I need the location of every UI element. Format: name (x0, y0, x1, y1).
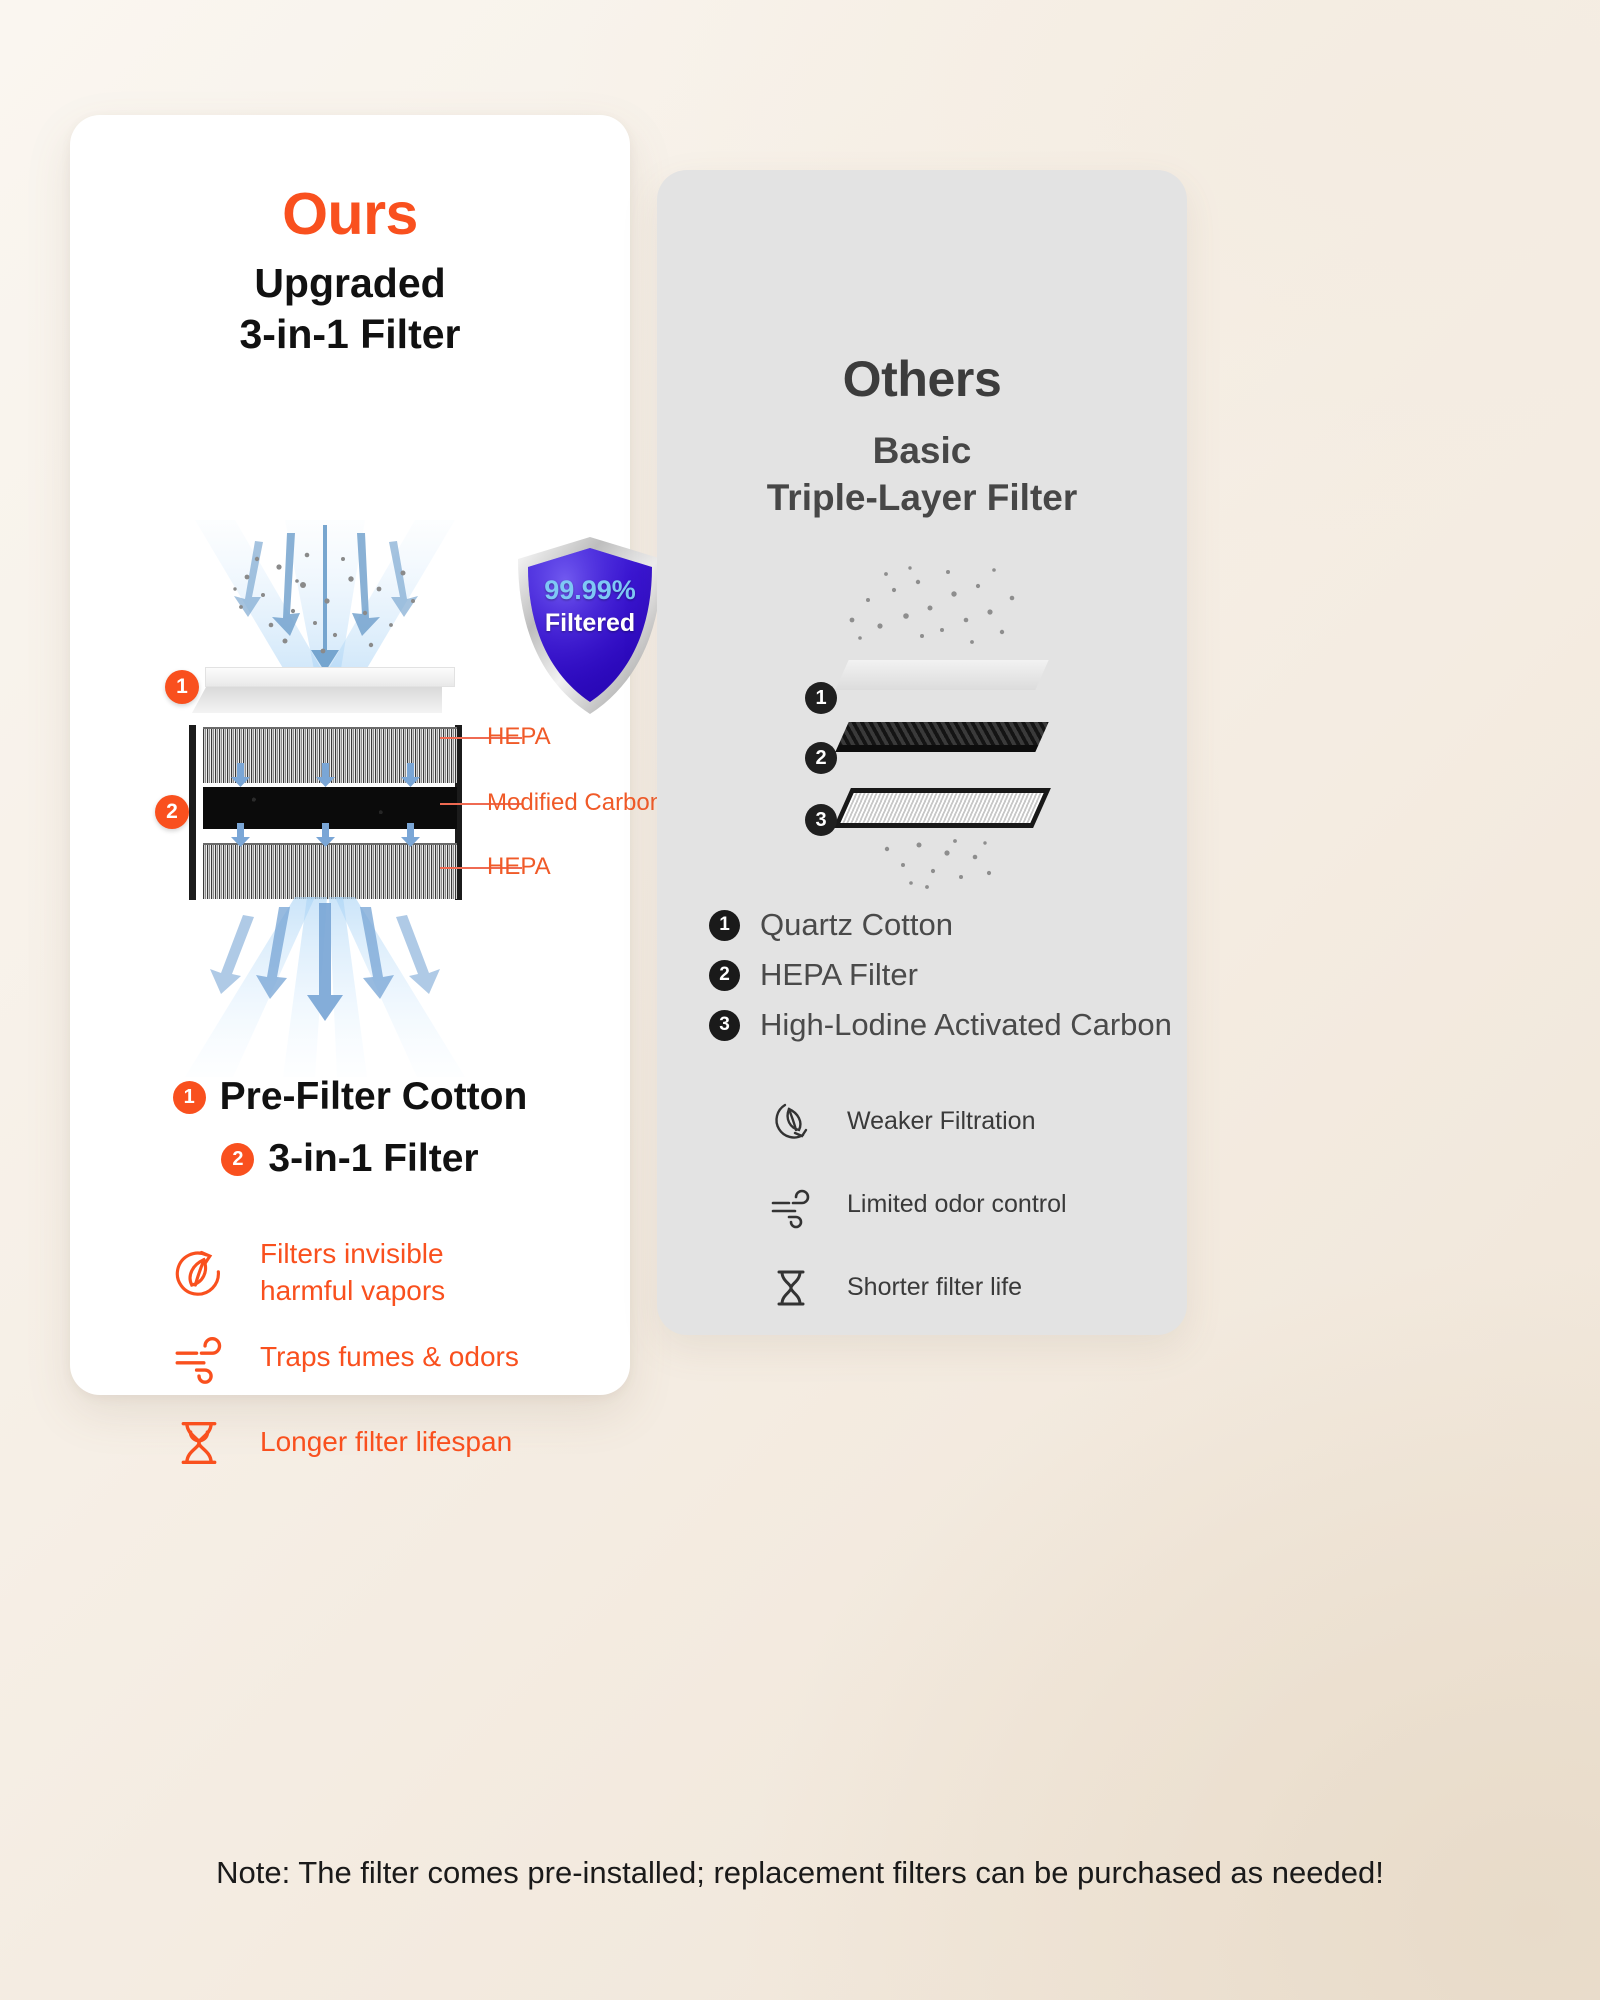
others-list-label-1: Quartz Cotton (760, 907, 953, 943)
ours-legend: 1 Pre-Filter Cotton 2 3-in-1 Filter (70, 1075, 630, 1181)
others-subtitle: Basic Triple-Layer Filter (657, 428, 1187, 521)
dust-particles-top-icon (822, 560, 1032, 650)
drawback-label: Shorter filter life (847, 1273, 1022, 1302)
internal-airflow-bottom-icon (225, 823, 435, 847)
others-list-badge-1: 1 (709, 910, 740, 941)
feature-text: Longer filter lifespan (260, 1424, 512, 1460)
drawback-item: Shorter filter life (767, 1246, 1067, 1329)
wind-icon (767, 1181, 815, 1229)
others-subtitle-line2: Triple-Layer Filter (657, 475, 1187, 522)
others-layer-list: 1 Quartz Cotton 2 HEPA Filter 3 High-Lod… (709, 900, 1172, 1050)
clean-airflow-icon (155, 897, 495, 1082)
feature-text-line2: harmful vapors (260, 1273, 445, 1309)
feature-text-line1: Filters invisible (260, 1236, 445, 1272)
ours-card: Ours Upgraded 3-in-1 Filter (70, 115, 630, 1395)
label-modified-carbon: Modified Carbon (487, 789, 663, 817)
feature-item: Traps fumes & odors (170, 1315, 519, 1400)
others-diagram-badge-2: 2 (805, 742, 837, 774)
wind-icon (170, 1329, 228, 1387)
ours-subtitle: Upgraded 3-in-1 Filter (70, 258, 630, 360)
legend-row: 1 Pre-Filter Cotton (70, 1075, 630, 1119)
others-list-badge-2: 2 (709, 960, 740, 991)
dust-particles-bottom-icon (867, 835, 1007, 895)
feature-text-line1: Traps fumes & odors (260, 1339, 519, 1375)
others-card: Others Basic Triple-Layer Filter 1 2 (657, 170, 1187, 1335)
ours-subtitle-line2: 3-in-1 Filter (70, 309, 630, 360)
ours-title: Ours (70, 180, 630, 248)
internal-airflow-top-icon (225, 763, 435, 787)
feature-text-line1: Longer filter lifespan (260, 1424, 512, 1460)
pre-filter-cotton-slab (205, 667, 455, 687)
others-list-badge-3: 3 (709, 1010, 740, 1041)
others-diagram-badge-3: 3 (805, 804, 837, 836)
legend-badge-1: 1 (173, 1081, 206, 1114)
others-title: Others (657, 350, 1187, 408)
leaf-refresh-icon (767, 1098, 815, 1146)
filter-frame-left (189, 725, 196, 900)
drawback-item: Weaker Filtration (767, 1080, 1067, 1163)
ours-layer-badge-1: 1 (165, 670, 199, 704)
legend-badge-2: 2 (221, 1143, 254, 1176)
drawback-item: Limited odor control (767, 1163, 1067, 1246)
footer-note: Note: The filter comes pre-installed; re… (0, 1855, 1600, 1891)
hourglass-icon (170, 1414, 228, 1472)
ours-feature-list: Filters invisible harmful vapors Traps f… (170, 1230, 519, 1485)
label-hepa-bottom: HEPA (487, 853, 551, 881)
legend-label-1: Pre-Filter Cotton (220, 1075, 528, 1119)
others-diagram-badge-1: 1 (805, 682, 837, 714)
label-hepa-top: HEPA (487, 723, 551, 751)
drawback-label: Weaker Filtration (847, 1107, 1036, 1136)
infographic-stage: Ours Upgraded 3-in-1 Filter (0, 0, 1600, 2000)
quartz-cotton-plate (835, 660, 1048, 690)
activated-carbon-plate (835, 722, 1048, 752)
incoming-airflow-icon (175, 515, 475, 680)
feature-item: Filters invisible harmful vapors (170, 1230, 519, 1315)
feature-item: Longer filter lifespan (170, 1400, 519, 1485)
feature-text: Traps fumes & odors (260, 1339, 519, 1375)
hourglass-icon (767, 1264, 815, 1312)
legend-row: 2 3-in-1 Filter (70, 1137, 630, 1181)
list-item: 2 HEPA Filter (709, 950, 1172, 1000)
others-filter-diagram: 1 2 3 (797, 560, 1057, 880)
others-list-label-2: HEPA Filter (760, 957, 918, 993)
others-list-label-3: High-Lodine Activated Carbon (760, 1007, 1172, 1043)
legend-label-2: 3-in-1 Filter (268, 1137, 478, 1181)
hepa-plate (833, 788, 1051, 828)
others-drawback-list: Weaker Filtration Limited odor control S… (767, 1080, 1067, 1329)
others-subtitle-line1: Basic (657, 428, 1187, 475)
drawback-label: Limited odor control (847, 1190, 1067, 1219)
ours-subtitle-line1: Upgraded (70, 258, 630, 309)
list-item: 1 Quartz Cotton (709, 900, 1172, 950)
leaf-refresh-icon (170, 1244, 228, 1302)
list-item: 3 High-Lodine Activated Carbon (709, 1000, 1172, 1050)
ours-filter-diagram: 1 2 (165, 515, 585, 1055)
hepa-layer-bottom (203, 843, 457, 899)
feature-text: Filters invisible harmful vapors (260, 1236, 445, 1309)
ours-layer-badge-2: 2 (155, 795, 189, 829)
